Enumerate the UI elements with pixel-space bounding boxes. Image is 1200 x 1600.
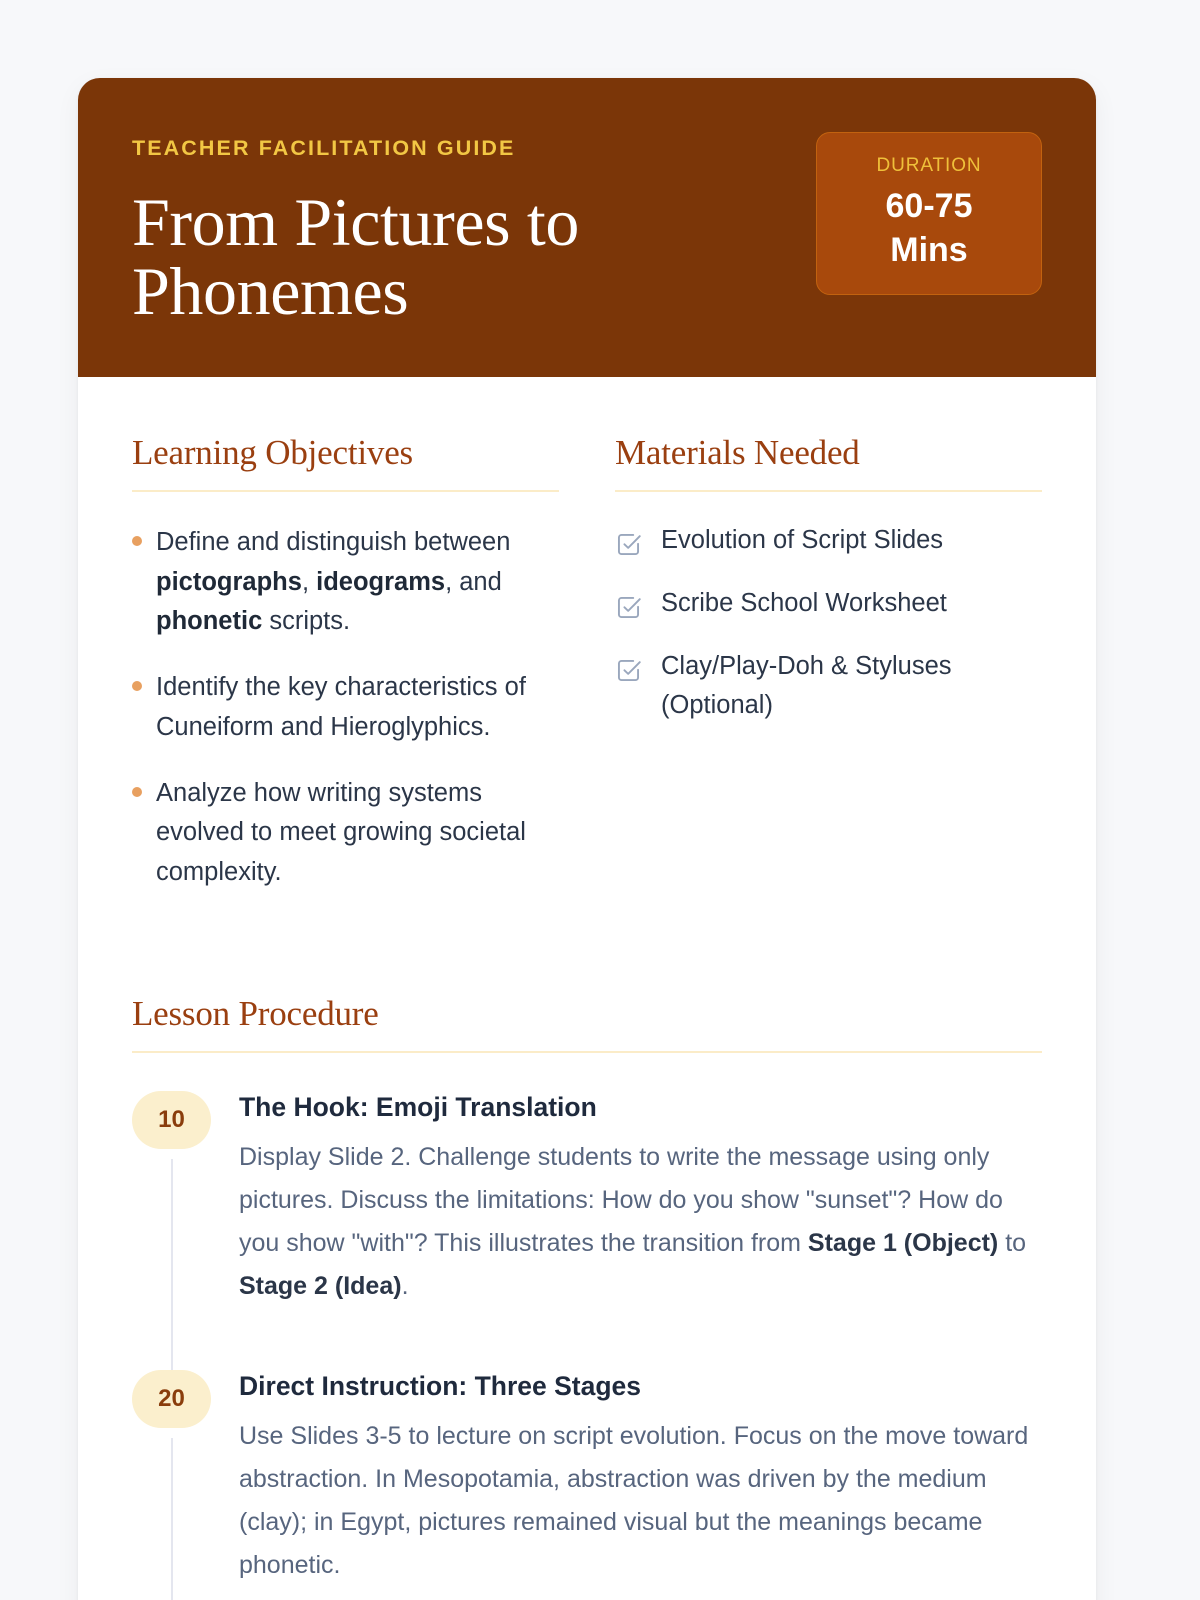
lesson-procedure-section: Lesson Procedure 10The Hook: Emoji Trans… xyxy=(132,994,1042,1600)
heading-divider xyxy=(132,1051,1042,1053)
card-body: Learning Objectives Define and distingui… xyxy=(78,377,1096,1600)
duration-value: 60-75 xyxy=(831,184,1027,230)
duration-badge: DURATION 60-75 Mins xyxy=(816,132,1042,295)
step-content: Direct Instruction: Three StagesUse Slid… xyxy=(239,1370,1042,1600)
step-content: The Hook: Emoji TranslationDisplay Slide… xyxy=(239,1091,1042,1370)
list-item: Identify the key characteristics of Cune… xyxy=(132,668,559,748)
learning-objectives-section: Learning Objectives Define and distingui… xyxy=(132,433,559,919)
list-item: Scribe School Worksheet xyxy=(615,584,1042,623)
header-text-block: TEACHER FACILITATION GUIDE From Pictures… xyxy=(132,130,816,327)
bullet-dot-icon xyxy=(132,681,142,691)
lesson-procedure-heading: Lesson Procedure xyxy=(132,994,1042,1034)
learning-objectives-list: Define and distinguish between pictograp… xyxy=(132,523,559,893)
step-gutter: 10 xyxy=(132,1091,211,1370)
step-title: Direct Instruction: Three Stages xyxy=(239,1370,1042,1403)
material-label: Scribe School Worksheet xyxy=(661,584,947,623)
objective-text: Define and distinguish between pictograp… xyxy=(156,523,559,642)
procedure-step: 20Direct Instruction: Three StagesUse Sl… xyxy=(132,1370,1042,1600)
step-minutes-badge: 10 xyxy=(132,1091,211,1149)
step-title: The Hook: Emoji Translation xyxy=(239,1091,1042,1124)
page-title: From Pictures to Phonemes xyxy=(132,188,772,327)
step-minutes-badge: 20 xyxy=(132,1370,211,1428)
materials-needed-heading: Materials Needed xyxy=(615,433,1042,473)
heading-divider xyxy=(132,490,559,492)
objective-text: Analyze how writing systems evolved to m… xyxy=(156,774,559,893)
page-root: TEACHER FACILITATION GUIDE From Pictures… xyxy=(0,0,1200,1600)
objective-text: Identify the key characteristics of Cune… xyxy=(156,668,559,748)
list-item: Evolution of Script Slides xyxy=(615,521,1042,560)
step-description: Display Slide 2. Challenge students to w… xyxy=(239,1136,1042,1308)
list-item: Clay/Play-Doh & Styluses (Optional) xyxy=(615,647,1042,725)
step-connector-line xyxy=(171,1159,173,1370)
info-columns: Learning Objectives Define and distingui… xyxy=(132,433,1042,919)
checkbox-checked-icon[interactable] xyxy=(615,657,642,684)
bullet-dot-icon xyxy=(132,536,142,546)
procedure-steps: 10The Hook: Emoji TranslationDisplay Sli… xyxy=(132,1091,1042,1600)
materials-list: Evolution of Script SlidesScribe School … xyxy=(615,521,1042,725)
material-label: Evolution of Script Slides xyxy=(661,521,943,560)
eyebrow-label: TEACHER FACILITATION GUIDE xyxy=(132,136,816,162)
step-gutter: 20 xyxy=(132,1370,211,1600)
checkbox-checked-icon[interactable] xyxy=(615,594,642,621)
list-item: Define and distinguish between pictograp… xyxy=(132,523,559,642)
duration-unit: Mins xyxy=(831,230,1027,271)
checkbox-checked-icon[interactable] xyxy=(615,531,642,558)
step-connector-line xyxy=(171,1438,173,1600)
lesson-guide-card: TEACHER FACILITATION GUIDE From Pictures… xyxy=(78,78,1096,1600)
material-label: Clay/Play-Doh & Styluses (Optional) xyxy=(661,647,1042,725)
step-description: Use Slides 3-5 to lecture on script evol… xyxy=(239,1415,1042,1587)
card-header: TEACHER FACILITATION GUIDE From Pictures… xyxy=(78,78,1096,377)
list-item: Analyze how writing systems evolved to m… xyxy=(132,774,559,893)
duration-label: DURATION xyxy=(831,155,1027,178)
materials-needed-section: Materials Needed Evolution of Script Sli… xyxy=(615,433,1042,749)
heading-divider xyxy=(615,490,1042,492)
procedure-step: 10The Hook: Emoji TranslationDisplay Sli… xyxy=(132,1091,1042,1370)
bullet-dot-icon xyxy=(132,787,142,797)
learning-objectives-heading: Learning Objectives xyxy=(132,433,559,473)
